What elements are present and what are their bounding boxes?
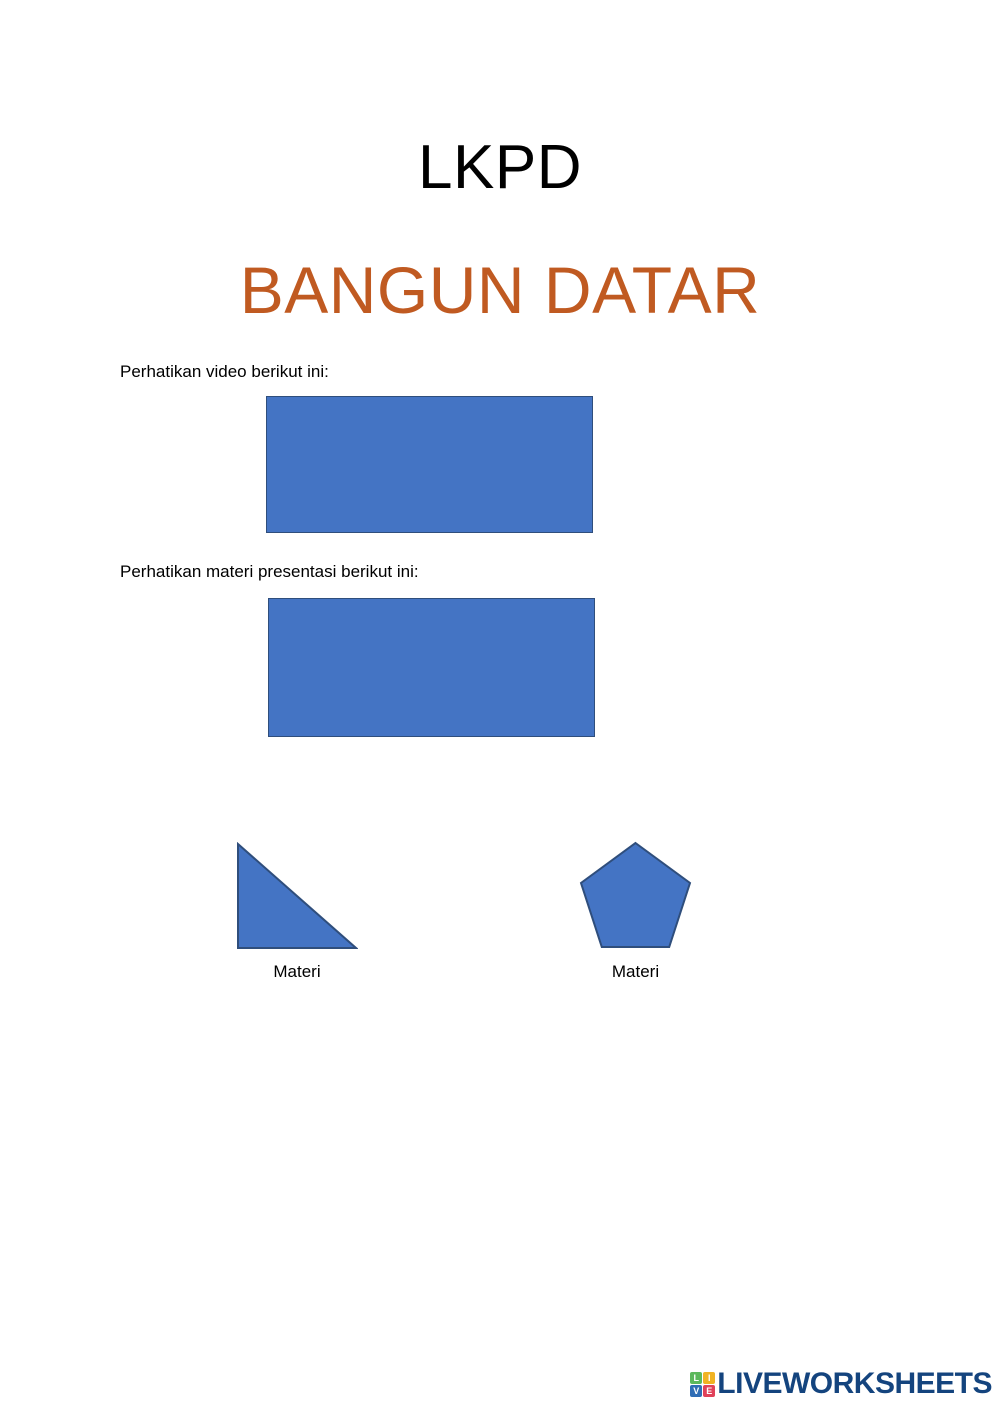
triangle-figure[interactable] xyxy=(236,842,358,950)
presentation-embed-placeholder[interactable] xyxy=(268,598,595,737)
pentagon-figure-caption: Materi xyxy=(578,960,693,984)
pentagon-icon xyxy=(578,841,693,950)
page-subtitle: BANGUN DATAR xyxy=(0,250,1000,330)
logo-cell-l: L xyxy=(690,1372,702,1384)
video-section-prompt: Perhatikan video berikut ini: xyxy=(120,360,329,384)
logo-cell-v: V xyxy=(690,1385,702,1397)
liveworksheets-logo[interactable]: L I V E LIVEWORKSHEETS xyxy=(690,1368,992,1400)
liveworksheets-wordmark: LIVEWORKSHEETS xyxy=(717,1367,992,1401)
page-title: LKPD xyxy=(0,131,1000,205)
logo-cell-i: I xyxy=(703,1372,715,1384)
video-embed-placeholder[interactable] xyxy=(266,396,593,533)
triangle-figure-caption: Materi xyxy=(236,960,358,984)
logo-cell-e: E xyxy=(703,1385,715,1397)
worksheet-page: LKPD BANGUN DATAR Perhatikan video berik… xyxy=(0,0,1000,1414)
live-logo-mark: L I V E xyxy=(690,1372,715,1397)
presentation-section-prompt: Perhatikan materi presentasi berikut ini… xyxy=(120,560,419,584)
pentagon-figure[interactable] xyxy=(578,841,693,950)
right-triangle-icon xyxy=(236,842,358,950)
